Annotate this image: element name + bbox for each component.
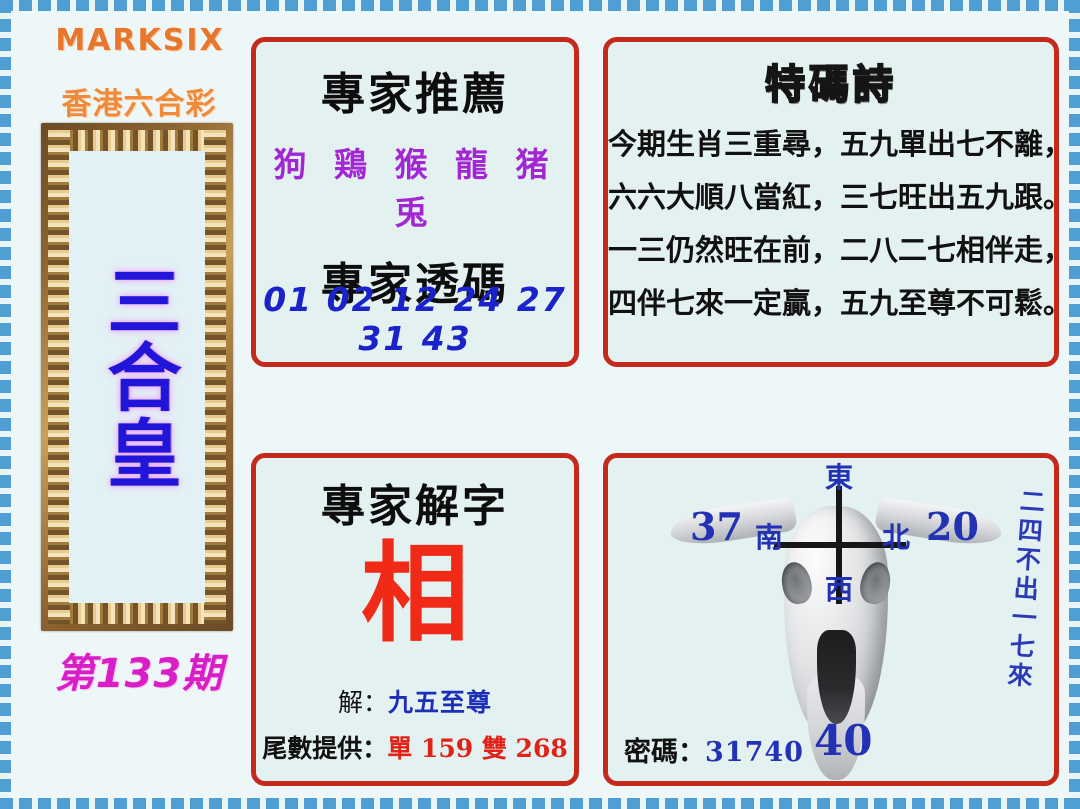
poem-line-2: 六六大順八當紅，三七旺出五九跟。 [608, 174, 1054, 216]
issue-number: 第133期 [39, 641, 239, 699]
recommend-zodiac-list: 狗 鶏 猴 龍 猪 兎 [256, 138, 574, 234]
skull-number-right: 20 [926, 504, 979, 549]
word-tail-label: 尾數提供： [262, 734, 387, 763]
brand-english: MARKSIX [45, 23, 235, 58]
skull-compass-panel: 東 南 北 西 37 20 40 二四不出一七來 密碼：31740 [603, 453, 1059, 786]
recommend-title: 專家推薦 [256, 58, 574, 122]
expert-recommend-panel: 專家推薦 狗 鶏 猴 龍 猪 兎 專家透碼 01 02 12 24 27 31 … [251, 37, 579, 367]
lottery-poster: MARKSIX 香港六合彩 三合皇 第133期 專家推薦 狗 鶏 猴 龍 猪 兎… [0, 0, 1080, 809]
word-tail-value: 單 159 雙 268 [387, 734, 567, 763]
skull-number-bottom: 40 [814, 716, 872, 765]
word-interpretation-panel: 專家解字 相 解：九五至尊 尾數提供：單 159 雙 268 [251, 453, 579, 786]
poem-line-1: 今期生肖三重尋，五九單出七不離， [608, 121, 1054, 163]
recommend-numbers: 01 02 12 24 27 31 43 [256, 280, 574, 358]
scroll-inner-panel: 三合皇 [69, 151, 205, 603]
skull-number-left: 37 [690, 504, 743, 549]
word-explain-row: 解：九五至尊 [256, 683, 574, 719]
poster-inner: MARKSIX 香港六合彩 三合皇 第133期 專家推薦 狗 鶏 猴 龍 猪 兎… [11, 11, 1069, 798]
frame-edge-bottom [0, 798, 1080, 809]
word-explain-label: 解： [338, 688, 388, 717]
ornate-scroll-frame: 三合皇 [41, 123, 233, 631]
frame-edge-top [0, 0, 1080, 11]
compass-label-west: 西 [825, 568, 853, 608]
scroll-ornament-right [204, 130, 226, 624]
poem-panel: 特碼詩 今期生肖三重尋，五九單出七不離， 六六大順八當紅，三七旺出五九跟。 一三… [603, 37, 1059, 367]
scroll-ornament-top [48, 130, 226, 152]
word-title: 專家解字 [256, 470, 574, 534]
scroll-ornament-left [48, 130, 70, 624]
poem-line-4: 四伴七來一定贏，五九至尊不可鬆。 [608, 280, 1054, 322]
compass-label-north: 北 [882, 516, 910, 556]
skull-side-vertical-text: 二四不出一七來 [1002, 487, 1047, 692]
word-tail-row: 尾數提供：單 159 雙 268 [256, 729, 574, 765]
scroll-ornament-bottom [48, 602, 226, 624]
compass-label-south: 南 [755, 516, 783, 556]
brand-chinese: 香港六合彩 [39, 79, 239, 123]
frame-edge-left [0, 0, 11, 809]
scroll-vertical-title: 三合皇 [99, 263, 174, 491]
compass-label-east: 東 [825, 458, 853, 496]
poem-line-3: 一三仍然旺在前，二八二七相伴走， [608, 227, 1054, 269]
frame-edge-right [1069, 0, 1080, 809]
skull-code-value: 31740 [705, 737, 804, 768]
skull-code-label: 密碼： [624, 737, 705, 768]
skull-illustration: 東 南 北 西 37 20 40 二四不出一七來 密碼：31740 [608, 458, 1054, 781]
skull-code-row: 密碼：31740 [624, 730, 804, 769]
word-explain-value: 九五至尊 [388, 688, 492, 717]
sidebar: MARKSIX 香港六合彩 三合皇 第133期 [19, 11, 244, 798]
word-glyph: 相 [256, 538, 574, 651]
poem-title: 特碼詩 [608, 52, 1054, 110]
